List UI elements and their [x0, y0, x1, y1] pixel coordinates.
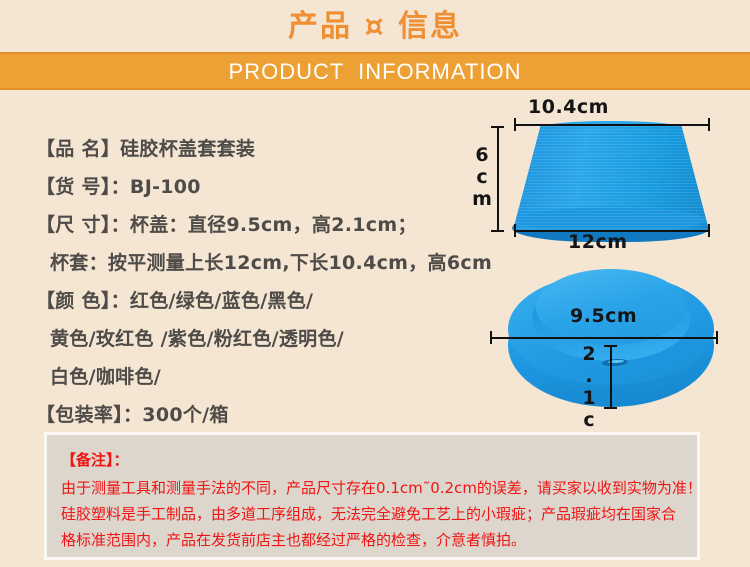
sleeve-height-dimension-cap-top — [491, 126, 504, 128]
sleeve-bottom-inner — [516, 208, 706, 232]
header-orange-band: PRODUCT INFORMATION — [0, 52, 750, 90]
sleeve-height-dimension-cap-bottom — [491, 230, 504, 232]
spec-line-product-name: 【品 名】硅胶杯盖套套装 — [36, 130, 476, 168]
product-spec-list: 【品 名】硅胶杯盖套套装 【货 号】：BJ-100 【尺 寸】：杯盖：直径9.5… — [36, 130, 476, 434]
sleeve-height-dimension-label: 6cm — [471, 144, 493, 210]
note-title: 【备注】： — [61, 447, 683, 473]
sleeve-top-dimension-label: 10.4cm — [528, 96, 609, 118]
lid-diameter-dimension-cap-right — [716, 331, 718, 344]
disclaimer-note-box: 【备注】： 由于测量工具和测量手法的不同，产品尺寸存在0.1cm˜0.2cm的误… — [44, 432, 700, 560]
sleeve-top-dimension-cap-right — [708, 118, 710, 131]
spec-line-size-lid: 【尺 寸】：杯盖：直径9.5cm，高2.1cm； — [36, 206, 476, 244]
cup-lid-illustration: 9.5cm 2.1cm — [470, 261, 750, 426]
lid-diameter-dimension-cap-left — [490, 331, 492, 344]
product-image-area: 10.4cm 6cm 12cm 9.5cm 2.1cm — [470, 96, 750, 426]
spec-line-colors-2: 黄色/玫红色 /紫色/粉红色/透明色/ — [36, 320, 476, 358]
spec-line-colors-3: 白色/咖啡色/ — [36, 358, 476, 396]
page-title-cn: 产品 ¤ 信息 — [0, 8, 750, 46]
sleeve-top-dimension-cap-left — [514, 118, 516, 131]
spec-line-colors-1: 【颜 色】：红色/绿色/蓝色/黑色/ — [36, 282, 476, 320]
note-line-3: 格标准范围内，产品在发货前店主也都经过严格的检查，介意者慎拍。 — [61, 527, 683, 553]
sleeve-top-dimension-line — [514, 124, 710, 126]
note-line-2: 硅胶塑料是手工制品，由多道工序组成，无法完全避免工艺上的小瑕疵；产品瑕疵均在国家… — [61, 501, 683, 527]
lid-height-dimension-cap-top — [604, 345, 617, 347]
sleeve-bottom-dimension-cap-right — [708, 224, 710, 237]
lid-diameter-dimension-label: 9.5cm — [570, 305, 637, 327]
note-line-1: 由于测量工具和测量手法的不同，产品尺寸存在0.1cm˜0.2cm的误差，请买家以… — [61, 475, 683, 501]
page-title-en: PRODUCT INFORMATION — [0, 54, 750, 92]
sleeve-bottom-dimension-cap-left — [514, 224, 516, 237]
cup-sleeve-illustration: 10.4cm 6cm 12cm — [470, 96, 750, 251]
lid-diameter-dimension-line — [490, 337, 718, 339]
lid-height-dimension-cap-bottom — [604, 407, 617, 409]
lid-height-dimension-line — [610, 345, 612, 409]
sleeve-height-dimension-line — [497, 126, 499, 232]
spec-line-size-sleeve: 杯套：按平测量上长12cm,下长10.4cm，高6cm — [36, 244, 476, 282]
spec-line-item-number: 【货 号】：BJ-100 — [36, 168, 476, 206]
spec-line-packing-rate: 【包装率】：300个/箱 — [36, 396, 476, 434]
sleeve-bottom-dimension-label: 12cm — [568, 231, 628, 253]
